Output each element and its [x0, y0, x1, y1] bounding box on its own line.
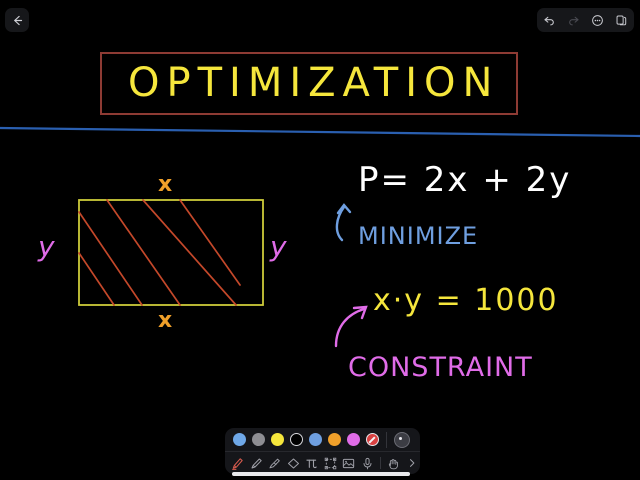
text-tool[interactable] [304, 455, 320, 472]
palette-divider [386, 432, 387, 448]
pencil-tool[interactable] [249, 455, 265, 472]
objective-equation: P= 2x + 2y [358, 160, 571, 200]
arrow-left-icon [11, 14, 24, 27]
more-options-icon[interactable] [590, 13, 605, 28]
drawing-canvas[interactable]: OPTIMIZATION x x y y P= 2x + 2y MINIMIZE… [0, 0, 640, 480]
color-palette-row [225, 428, 420, 452]
tools-divider [380, 457, 381, 469]
label-x-top: x [158, 172, 172, 197]
app-root: OPTIMIZATION x x y y P= 2x + 2y MINIMIZE… [0, 0, 640, 480]
swatch-yellow[interactable] [271, 433, 284, 446]
tools-row [225, 452, 420, 474]
stroke-size-preview[interactable] [394, 432, 410, 448]
home-indicator [232, 472, 410, 476]
lasso-select-tool[interactable] [323, 455, 339, 472]
drawing-toolbar [225, 428, 420, 474]
hatch-lines [79, 200, 240, 305]
swatch-orange[interactable] [328, 433, 341, 446]
undo-icon[interactable] [542, 13, 557, 28]
constraint-arrow [336, 307, 366, 346]
rectangle-shape [79, 200, 263, 305]
swatch-magenta[interactable] [347, 433, 360, 446]
pen-tool[interactable] [230, 455, 246, 472]
minimize-arrow [337, 205, 350, 240]
hand-tool[interactable] [386, 455, 402, 472]
constraint-note: CONSTRAINT [348, 352, 533, 383]
minimize-note: MINIMIZE [358, 222, 478, 250]
swatch-no-color[interactable] [366, 433, 379, 446]
label-x-bottom: x [158, 308, 172, 333]
redo-icon[interactable] [566, 13, 581, 28]
color-swatches [225, 433, 379, 446]
highlighter-tool[interactable] [267, 455, 283, 472]
back-button[interactable] [5, 8, 29, 32]
title-text: OPTIMIZATION [128, 60, 499, 106]
constraint-equation: x·y = 1000 [373, 283, 559, 318]
top-right-toolbar [537, 8, 634, 32]
image-tool[interactable] [341, 455, 357, 472]
blue-rule-line [0, 128, 640, 136]
microphone-tool[interactable] [360, 455, 376, 472]
label-y-left: y [38, 230, 55, 263]
eraser-tool[interactable] [286, 455, 302, 472]
swatch-black-outline[interactable] [290, 433, 303, 446]
swatch-gray[interactable] [252, 433, 265, 446]
swatch-blue[interactable] [309, 433, 322, 446]
label-y-right: y [270, 230, 287, 263]
swatch-light-blue[interactable] [233, 433, 246, 446]
more-tools-chevron[interactable] [405, 455, 420, 472]
duplicate-page-icon[interactable] [614, 13, 629, 28]
